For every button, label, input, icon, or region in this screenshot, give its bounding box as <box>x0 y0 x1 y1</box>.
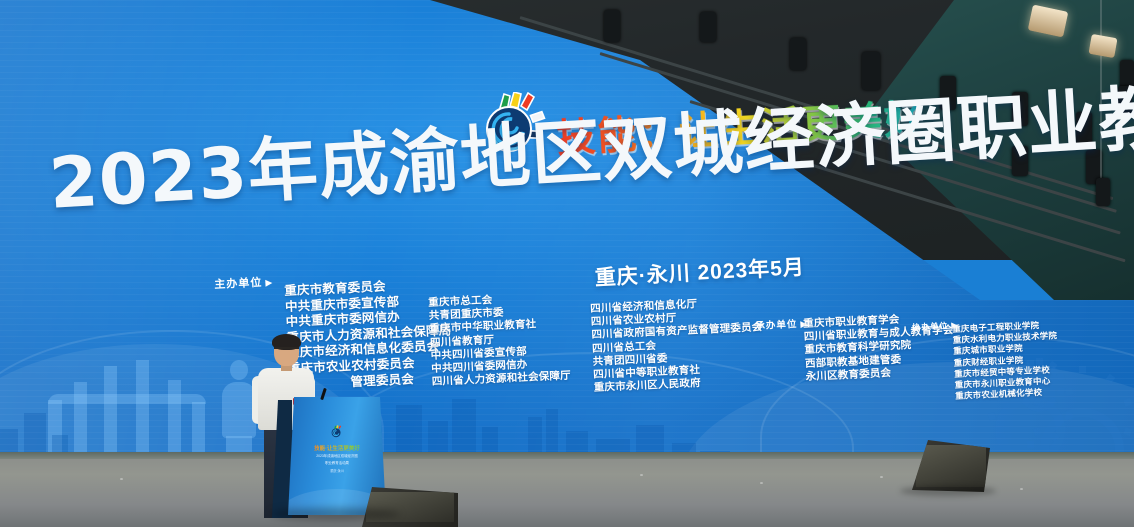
podium-location: 重庆·永川 <box>294 468 380 473</box>
led-scanline <box>0 432 1134 433</box>
led-scanline <box>0 426 1134 427</box>
speaker-glasses <box>274 347 299 355</box>
led-scanline <box>0 402 1134 403</box>
organizer-label: 承办单位▶ <box>755 316 809 332</box>
podium-title-line1: 2023年成渝地区双城经济圈 <box>294 454 380 459</box>
led-scanline <box>0 264 1134 265</box>
coorganizer-list: 重庆电子工程职业学院 重庆水利电力职业技术学院 重庆城市职业学院 重庆财经职业学… <box>952 319 1060 402</box>
led-scanline <box>0 270 1134 271</box>
podium-title-line2: 职业教育活动周 <box>294 461 380 466</box>
led-scanline <box>0 276 1134 277</box>
led-scanline <box>0 438 1134 439</box>
led-scanline <box>0 420 1134 421</box>
led-scanline <box>0 414 1134 415</box>
stage-monitor-speaker-left <box>362 487 458 527</box>
host-label: 主办单位▶ <box>214 273 274 292</box>
host-label-block: 主办单位▶ <box>214 273 274 295</box>
podium-logo-icon <box>331 425 344 438</box>
podium-shadow <box>270 508 400 520</box>
gear-tooth <box>1001 432 1011 442</box>
speaker-stand-shadow <box>900 486 996 496</box>
organizer-label-block: 承办单位▶ <box>755 316 809 335</box>
podium-slogan: 技能·让生活更美好 <box>294 444 380 452</box>
host-column-2: 重庆市总工会 共青团重庆市委 重庆市中华职业教育社 四川省教育厅 中共四川省委宣… <box>428 291 571 390</box>
host-column-3: 四川省经济和信息化厅 四川省农业农村厅 四川省政府国有资产监督管理委员会 四川省… <box>590 295 765 395</box>
led-scanline <box>0 408 1134 409</box>
led-scanline <box>0 282 1134 283</box>
speaker-grill <box>916 445 986 487</box>
podium-front-panel: 技能·让生活更美好 2023年成渝地区双城经济圈 职业教育活动周 重庆·永川 <box>294 425 380 477</box>
triangle-marker-icon: ▶ <box>265 277 273 287</box>
led-scanline <box>0 288 1134 289</box>
stage-photo: 技能：让生活更美好 2023年成渝地区双城经济圈职业教育活动周 重庆·永川 20… <box>0 0 1134 527</box>
